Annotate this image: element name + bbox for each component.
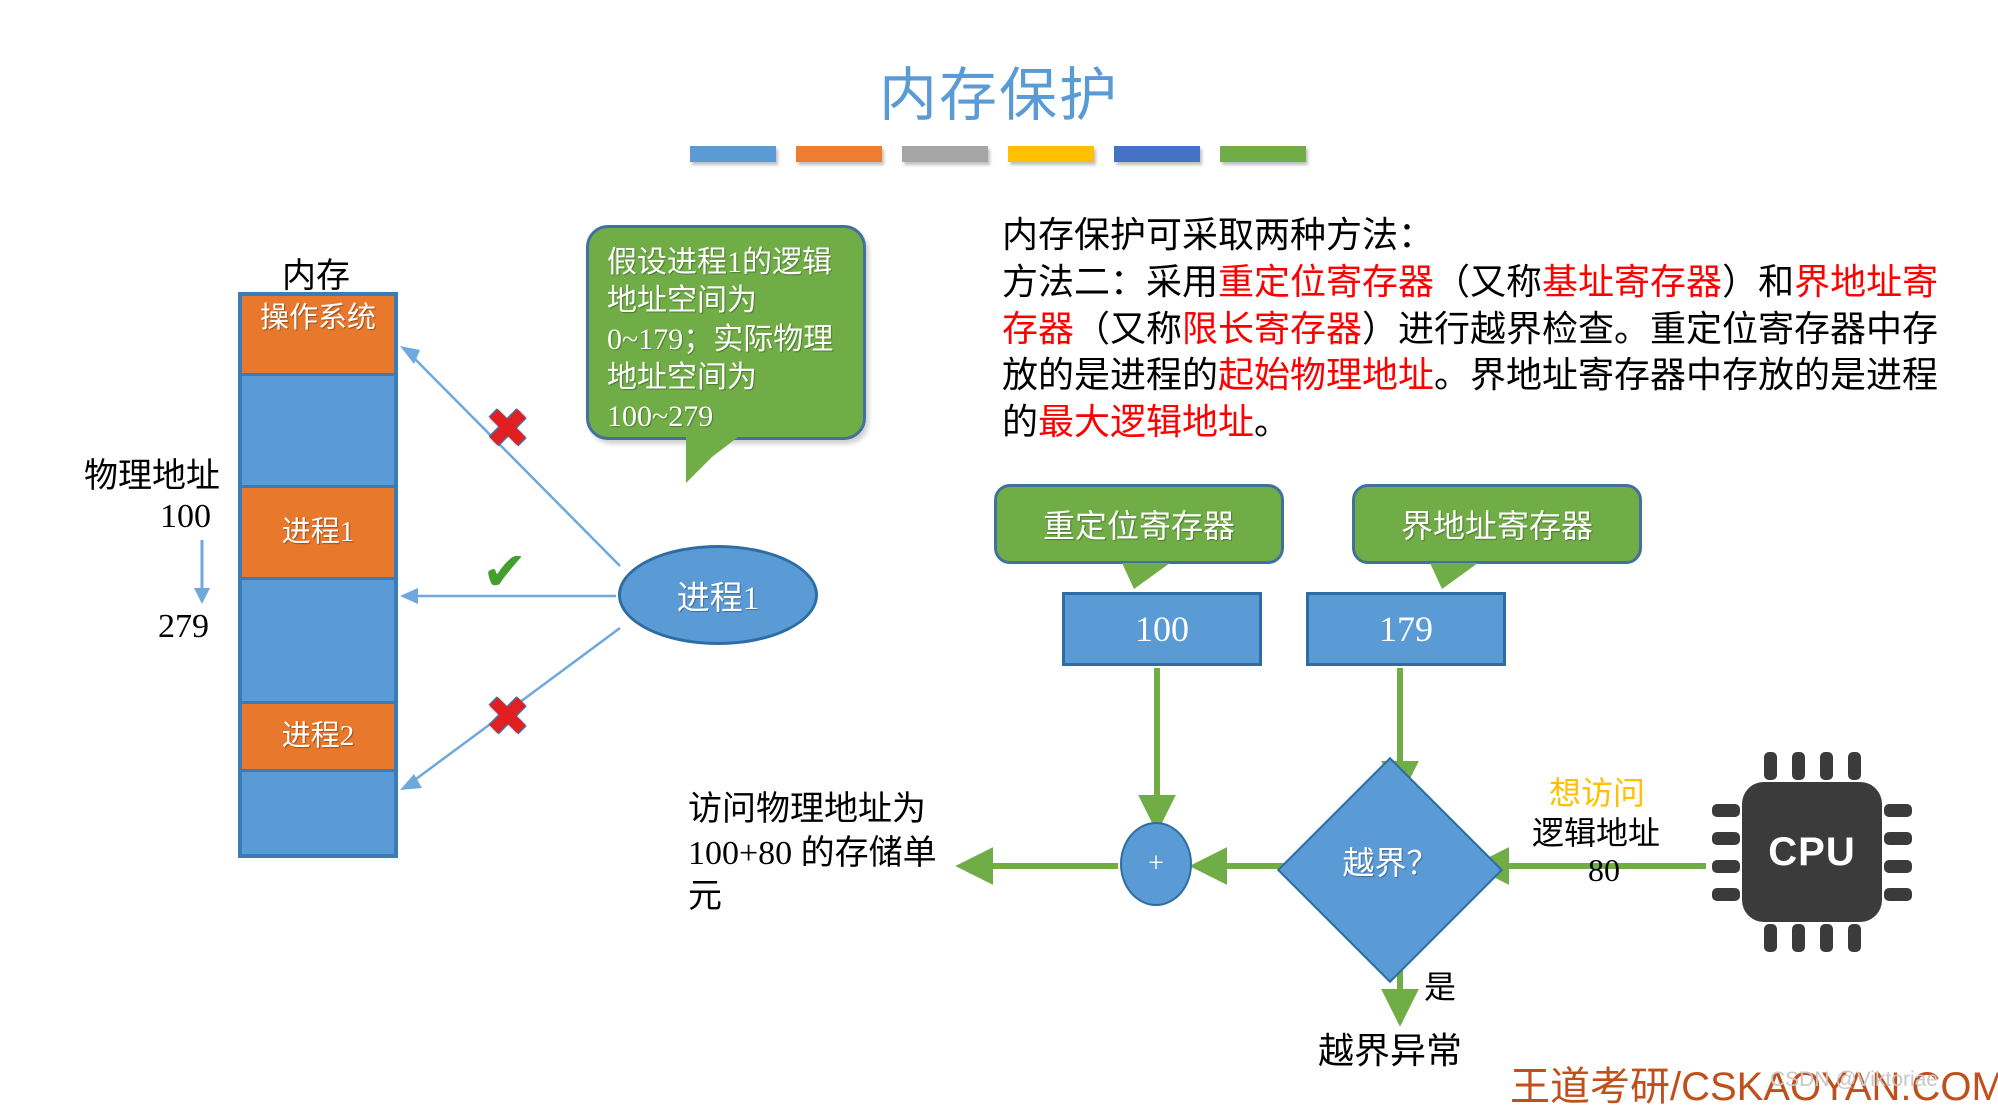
logical-address-label: 逻辑地址 <box>1532 808 1660 854</box>
check-icon-middle: ✔ <box>482 545 527 599</box>
cpu-pin-right-2 <box>1884 832 1912 845</box>
para-seg-1: 重定位寄存器 <box>1218 262 1434 302</box>
assumption-callout: 假设进程1的逻辑地址空间为 0~179；实际物理地址空间为 100~279 <box>586 225 866 440</box>
cross-icon-top: ✖ <box>485 402 530 456</box>
cpu-pin-left-1 <box>1712 804 1740 817</box>
cpu-pin-top-2 <box>1792 752 1805 780</box>
bar-darkblue <box>1114 146 1200 162</box>
out-of-bounds-decision-label: 越界？ <box>1318 838 1463 884</box>
explanation-paragraph: 内存保护可采取两种方法： 方法二：采用重定位寄存器（又称基址寄存器）和界地址寄存… <box>1002 212 1962 446</box>
memory-block-os: 操作系统 <box>242 296 394 376</box>
physical-address-label: 物理地址 <box>84 448 220 497</box>
relocation-register-value: 100 <box>1135 608 1189 650</box>
cpu-label: CPU <box>1768 830 1855 875</box>
para-seg-3: 基址寄存器 <box>1542 262 1722 302</box>
cpu-pin-left-4 <box>1712 888 1740 901</box>
page-title: 内存保护 <box>0 48 1998 132</box>
relocation-register-value-box[interactable]: 100 <box>1062 592 1262 666</box>
para-seg-9: 起始物理地址 <box>1218 355 1434 395</box>
bar-blue <box>690 146 776 162</box>
cross-icon-bottom: ✖ <box>485 690 530 744</box>
para-seg-4: ）和 <box>1722 262 1794 302</box>
memory-block-process2: 进程2 <box>242 704 394 772</box>
para-seg-2: （又称 <box>1434 262 1542 302</box>
cpu-icon: CPU <box>1712 752 1912 952</box>
logical-address-value: 80 <box>1588 852 1620 889</box>
yes-branch-label: 是 <box>1424 962 1456 1008</box>
cpu-pin-right-4 <box>1884 888 1912 901</box>
memory-title: 内存 <box>236 248 396 297</box>
cpu-pin-right-3 <box>1884 860 1912 873</box>
cpu-pin-bottom-3 <box>1820 924 1833 952</box>
cpu-pin-left-2 <box>1712 832 1740 845</box>
physical-address-end: 279 <box>158 608 209 646</box>
relocation-register-callout: 重定位寄存器 <box>994 484 1284 564</box>
bar-yellow <box>1008 146 1094 162</box>
cpu-pin-top-4 <box>1848 752 1861 780</box>
para-seg-7: 限长寄存器 <box>1182 309 1362 349</box>
bar-gray <box>902 146 988 162</box>
address-range-arrow-icon <box>182 538 222 608</box>
memory-block-free-1 <box>242 376 394 488</box>
assumption-callout-tail <box>686 437 738 483</box>
memory-column: 操作系统 进程1 进程2 <box>238 292 398 858</box>
para-seg-6: （又称 <box>1074 309 1182 349</box>
cpu-pin-bottom-2 <box>1792 924 1805 952</box>
limit-register-value: 179 <box>1379 608 1433 650</box>
cpu-pin-bottom-4 <box>1848 924 1861 952</box>
cpu-pin-bottom-1 <box>1764 924 1777 952</box>
relocation-register-callout-tail <box>1122 563 1170 589</box>
paragraph-line-1: 内存保护可采取两种方法： <box>1002 212 1962 259</box>
para-seg-12: 。 <box>1254 402 1290 442</box>
access-result-text: 访问物理地址为 100+80 的存储单元 <box>688 788 958 919</box>
limit-register-label: 界地址寄存器 <box>1401 501 1593 547</box>
title-decorative-bars <box>690 146 1306 162</box>
limit-register-value-box[interactable]: 179 <box>1306 592 1506 666</box>
memory-block-os-label: 操作系统 <box>242 302 394 334</box>
cpu-body: CPU <box>1742 782 1882 922</box>
memory-block-free-3 <box>242 772 394 854</box>
out-of-bounds-exception-label: 越界异常 <box>1318 1022 1462 1074</box>
limit-register-callout: 界地址寄存器 <box>1352 484 1642 564</box>
cpu-pin-top-1 <box>1764 752 1777 780</box>
cpu-pin-left-3 <box>1712 860 1740 873</box>
memory-block-process2-label: 进程2 <box>242 720 394 752</box>
memory-block-process1-label: 进程1 <box>242 516 394 548</box>
cpu-pin-right-1 <box>1884 804 1912 817</box>
paragraph-line-2: 方法二：采用重定位寄存器（又称基址寄存器）和界地址寄存器（又称限长寄存器）进行越… <box>1002 259 1962 446</box>
para-seg-0: 方法二：采用 <box>1002 262 1218 302</box>
relocation-register-label: 重定位寄存器 <box>1043 501 1235 547</box>
bar-green <box>1220 146 1306 162</box>
para-seg-11: 最大逻辑地址 <box>1038 402 1254 442</box>
memory-block-free-2 <box>242 580 394 704</box>
cpu-pin-top-3 <box>1820 752 1833 780</box>
process1-node-label: 进程1 <box>677 571 760 619</box>
memory-block-process1: 进程1 <box>242 488 394 580</box>
adder-symbol: + <box>1148 848 1164 880</box>
bar-orange <box>796 146 882 162</box>
watermark-faint: CSDN @Viktoriae <box>1770 1068 1938 1092</box>
process1-node[interactable]: 进程1 <box>618 545 818 645</box>
physical-address-start: 100 <box>160 498 211 536</box>
limit-register-callout-tail <box>1430 563 1478 589</box>
adder-node: + <box>1120 822 1192 906</box>
